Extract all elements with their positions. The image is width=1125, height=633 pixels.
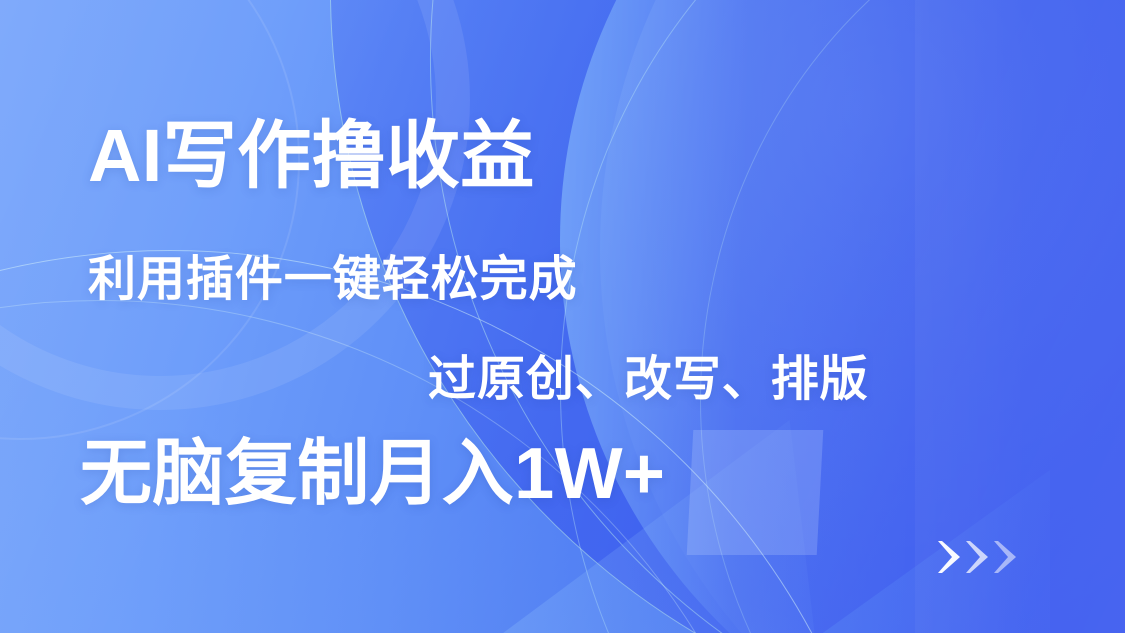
chevron-right-icon <box>966 540 992 574</box>
banner-subline-2: 过原创、改写、排版 <box>428 356 869 404</box>
banner-headline: AI写作撸收益 <box>88 119 535 193</box>
banner-subline-3: 无脑复制月入1W+ <box>80 438 665 510</box>
promo-banner: AI写作撸收益 利用插件一键轻松完成 过原创、改写、排版 无脑复制月入1W+ <box>0 0 1125 633</box>
chevron-right-icon <box>994 540 1020 574</box>
forward-arrows-group <box>938 540 1020 574</box>
chevron-right-icon <box>938 540 964 574</box>
headline-group: AI写作撸收益 利用插件一键轻松完成 过原创、改写、排版 无脑复制月入1W+ <box>0 0 1125 633</box>
banner-subline-1: 利用插件一键轻松完成 <box>88 256 578 304</box>
